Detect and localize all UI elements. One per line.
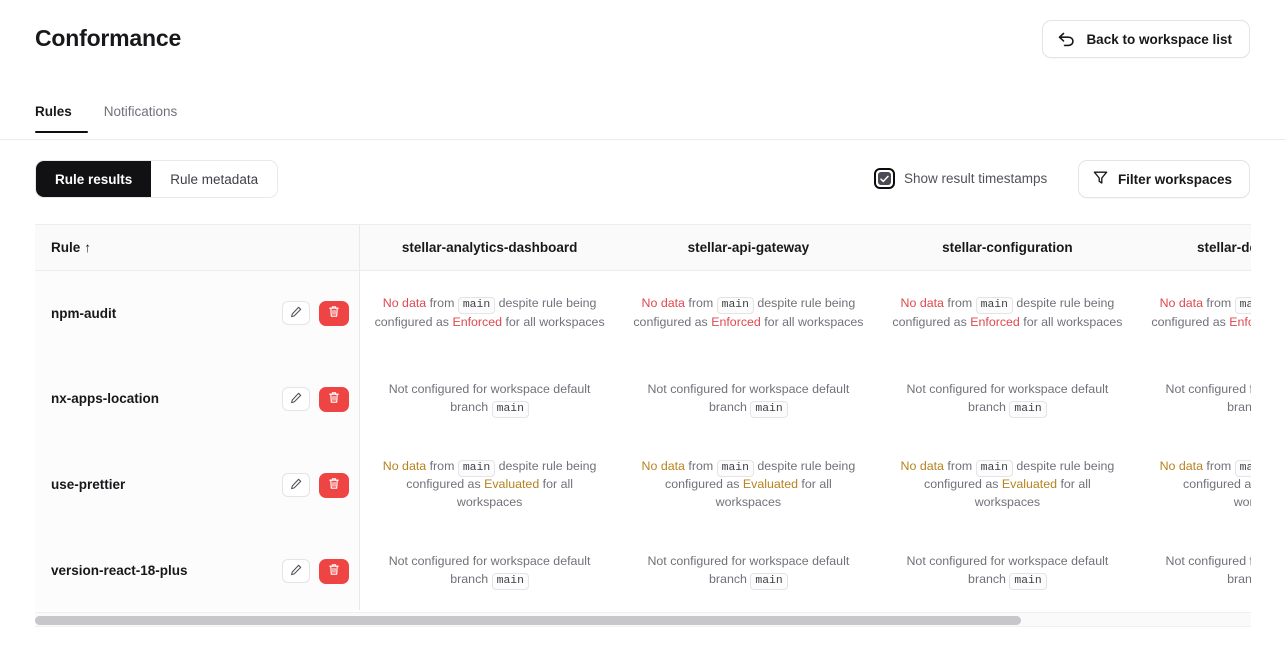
result-cell: Not configured for workspace default bra…	[878, 528, 1137, 610]
trash-icon	[328, 477, 340, 493]
trash-icon	[328, 563, 340, 579]
horizontal-scrollbar-thumb[interactable]	[35, 616, 1021, 625]
show-timestamps-label: Show result timestamps	[904, 171, 1047, 186]
branch-chip: main	[1235, 460, 1251, 477]
check-icon	[880, 175, 889, 183]
result-status-no-data: No data	[642, 459, 685, 473]
branch-chip: main	[976, 297, 1013, 314]
view-mode-segmented-control: Rule results Rule metadata	[35, 160, 278, 198]
rule-actions	[282, 301, 349, 326]
delete-rule-button[interactable]	[319, 473, 349, 498]
rule-actions	[282, 559, 349, 584]
pencil-icon	[290, 306, 302, 321]
result-cell: No data from main despite rule being con…	[619, 442, 878, 528]
delete-rule-button[interactable]	[319, 387, 349, 412]
result-status-mode: Evaluated	[1002, 477, 1057, 491]
rule-name: use-prettier	[51, 475, 125, 494]
table-row: nx-apps-locationNot configured for works…	[35, 356, 1251, 442]
result-cell: No data from main despite rule being con…	[619, 270, 878, 356]
rule-actions	[282, 473, 349, 498]
segment-rule-results[interactable]: Rule results	[36, 161, 151, 197]
result-cell: No data from main despite rule being con…	[878, 442, 1137, 528]
result-status-no-data: No data	[1160, 296, 1203, 310]
rules-table-scroll-container[interactable]: Rule↑ stellar-analytics-dashboard stella…	[35, 224, 1251, 610]
result-status-mode: Enforced	[711, 315, 761, 329]
result-status-no-data: No data	[901, 296, 944, 310]
trash-icon	[328, 391, 340, 407]
result-cell: Not configured for workspace default bra…	[1137, 528, 1251, 610]
page-header: Conformance Back to workspace list	[0, 0, 1286, 78]
branch-chip: main	[717, 460, 754, 477]
filter-workspaces-button[interactable]: Filter workspaces	[1078, 160, 1250, 198]
rule-cell: npm-audit	[35, 270, 360, 356]
show-result-timestamps-control[interactable]: Show result timestamps	[874, 168, 1047, 189]
tab-bar: Rules Notifications	[0, 104, 1286, 140]
edit-rule-button[interactable]	[282, 301, 310, 325]
branch-chip: main	[750, 401, 787, 418]
result-cell: No data from main despite rule being con…	[1137, 270, 1251, 356]
result-cell: No data from main despite rule being con…	[878, 270, 1137, 356]
table-header-row: Rule↑ stellar-analytics-dashboard stella…	[35, 225, 1251, 270]
page-title: Conformance	[35, 25, 181, 52]
rule-cell: nx-apps-location	[35, 356, 360, 442]
branch-chip: main	[1009, 573, 1046, 590]
table-row: use-prettierNo data from main despite ru…	[35, 442, 1251, 528]
table-header: Rule↑ stellar-analytics-dashboard stella…	[35, 225, 1251, 270]
rule-name: nx-apps-location	[51, 389, 159, 408]
table-row: version-react-18-plusNot configured for …	[35, 528, 1251, 610]
result-cell: Not configured for workspace default bra…	[360, 528, 619, 610]
toolbar: Rule results Rule metadata Show result t…	[0, 160, 1286, 200]
branch-chip: main	[1235, 297, 1251, 314]
branch-chip: main	[492, 401, 529, 418]
column-header-workspace-3[interactable]: stellar-configuration	[878, 225, 1137, 270]
result-status-mode: Enforced	[452, 315, 502, 329]
branch-chip: main	[976, 460, 1013, 477]
table-body: npm-auditNo data from main despite rule …	[35, 270, 1251, 610]
segment-rule-metadata[interactable]: Rule metadata	[151, 161, 277, 197]
rule-name: version-react-18-plus	[51, 561, 188, 580]
horizontal-scrollbar[interactable]	[35, 612, 1251, 627]
result-cell: No data from main despite rule being con…	[360, 442, 619, 528]
result-cell: Not configured for workspace default bra…	[619, 528, 878, 610]
column-header-rule[interactable]: Rule↑	[35, 225, 360, 270]
result-status-mode: Enforced	[1229, 315, 1251, 329]
result-cell: Not configured for workspace default bra…	[878, 356, 1137, 442]
tab-notifications[interactable]: Notifications	[88, 104, 194, 132]
branch-chip: main	[492, 573, 529, 590]
branch-chip: main	[1009, 401, 1046, 418]
branch-chip: main	[458, 297, 495, 314]
branch-chip: main	[750, 573, 787, 590]
table-row: npm-auditNo data from main despite rule …	[35, 270, 1251, 356]
result-status-no-data: No data	[383, 296, 426, 310]
funnel-icon	[1093, 170, 1108, 188]
rule-name: npm-audit	[51, 304, 116, 323]
result-status-no-data: No data	[1160, 459, 1203, 473]
result-cell: No data from main despite rule being con…	[360, 270, 619, 356]
tab-rules[interactable]: Rules	[19, 104, 88, 132]
result-cell: Not configured for workspace default bra…	[1137, 356, 1251, 442]
rule-actions	[282, 387, 349, 412]
back-button-label: Back to workspace list	[1086, 32, 1232, 47]
column-header-workspace-4[interactable]: stellar-design-system	[1137, 225, 1251, 270]
pencil-icon	[290, 564, 302, 579]
column-header-rule-label: Rule	[51, 240, 80, 255]
pencil-icon	[290, 478, 302, 493]
filter-button-label: Filter workspaces	[1118, 172, 1232, 187]
branch-chip: main	[717, 297, 754, 314]
rules-table: Rule↑ stellar-analytics-dashboard stella…	[35, 225, 1251, 610]
pencil-icon	[290, 392, 302, 407]
result-status-mode: Evaluated	[484, 477, 539, 491]
result-status-no-data: No data	[901, 459, 944, 473]
column-header-workspace-2[interactable]: stellar-api-gateway	[619, 225, 878, 270]
trash-icon	[328, 305, 340, 321]
result-status-mode: Evaluated	[743, 477, 798, 491]
conformance-page: Conformance Back to workspace list Rules…	[0, 0, 1286, 667]
result-cell: Not configured for workspace default bra…	[619, 356, 878, 442]
rule-cell: use-prettier	[35, 442, 360, 528]
result-cell: No data from main despite rule being con…	[1137, 442, 1251, 528]
rule-cell: version-react-18-plus	[35, 528, 360, 610]
edit-rule-button[interactable]	[282, 473, 310, 497]
branch-chip: main	[458, 460, 495, 477]
show-timestamps-checkbox[interactable]	[874, 168, 895, 189]
edit-rule-button[interactable]	[282, 387, 310, 411]
result-status-mode: Enforced	[970, 315, 1020, 329]
reply-arrow-icon	[1058, 32, 1075, 47]
delete-rule-button[interactable]	[319, 559, 349, 584]
back-to-workspace-list-button[interactable]: Back to workspace list	[1042, 20, 1250, 58]
result-status-no-data: No data	[383, 459, 426, 473]
column-header-workspace-1[interactable]: stellar-analytics-dashboard	[360, 225, 619, 270]
result-cell: Not configured for workspace default bra…	[360, 356, 619, 442]
checkbox-fill	[878, 172, 891, 185]
result-status-no-data: No data	[642, 296, 685, 310]
sort-ascending-icon[interactable]: ↑	[84, 240, 91, 255]
delete-rule-button[interactable]	[319, 301, 349, 326]
edit-rule-button[interactable]	[282, 559, 310, 583]
